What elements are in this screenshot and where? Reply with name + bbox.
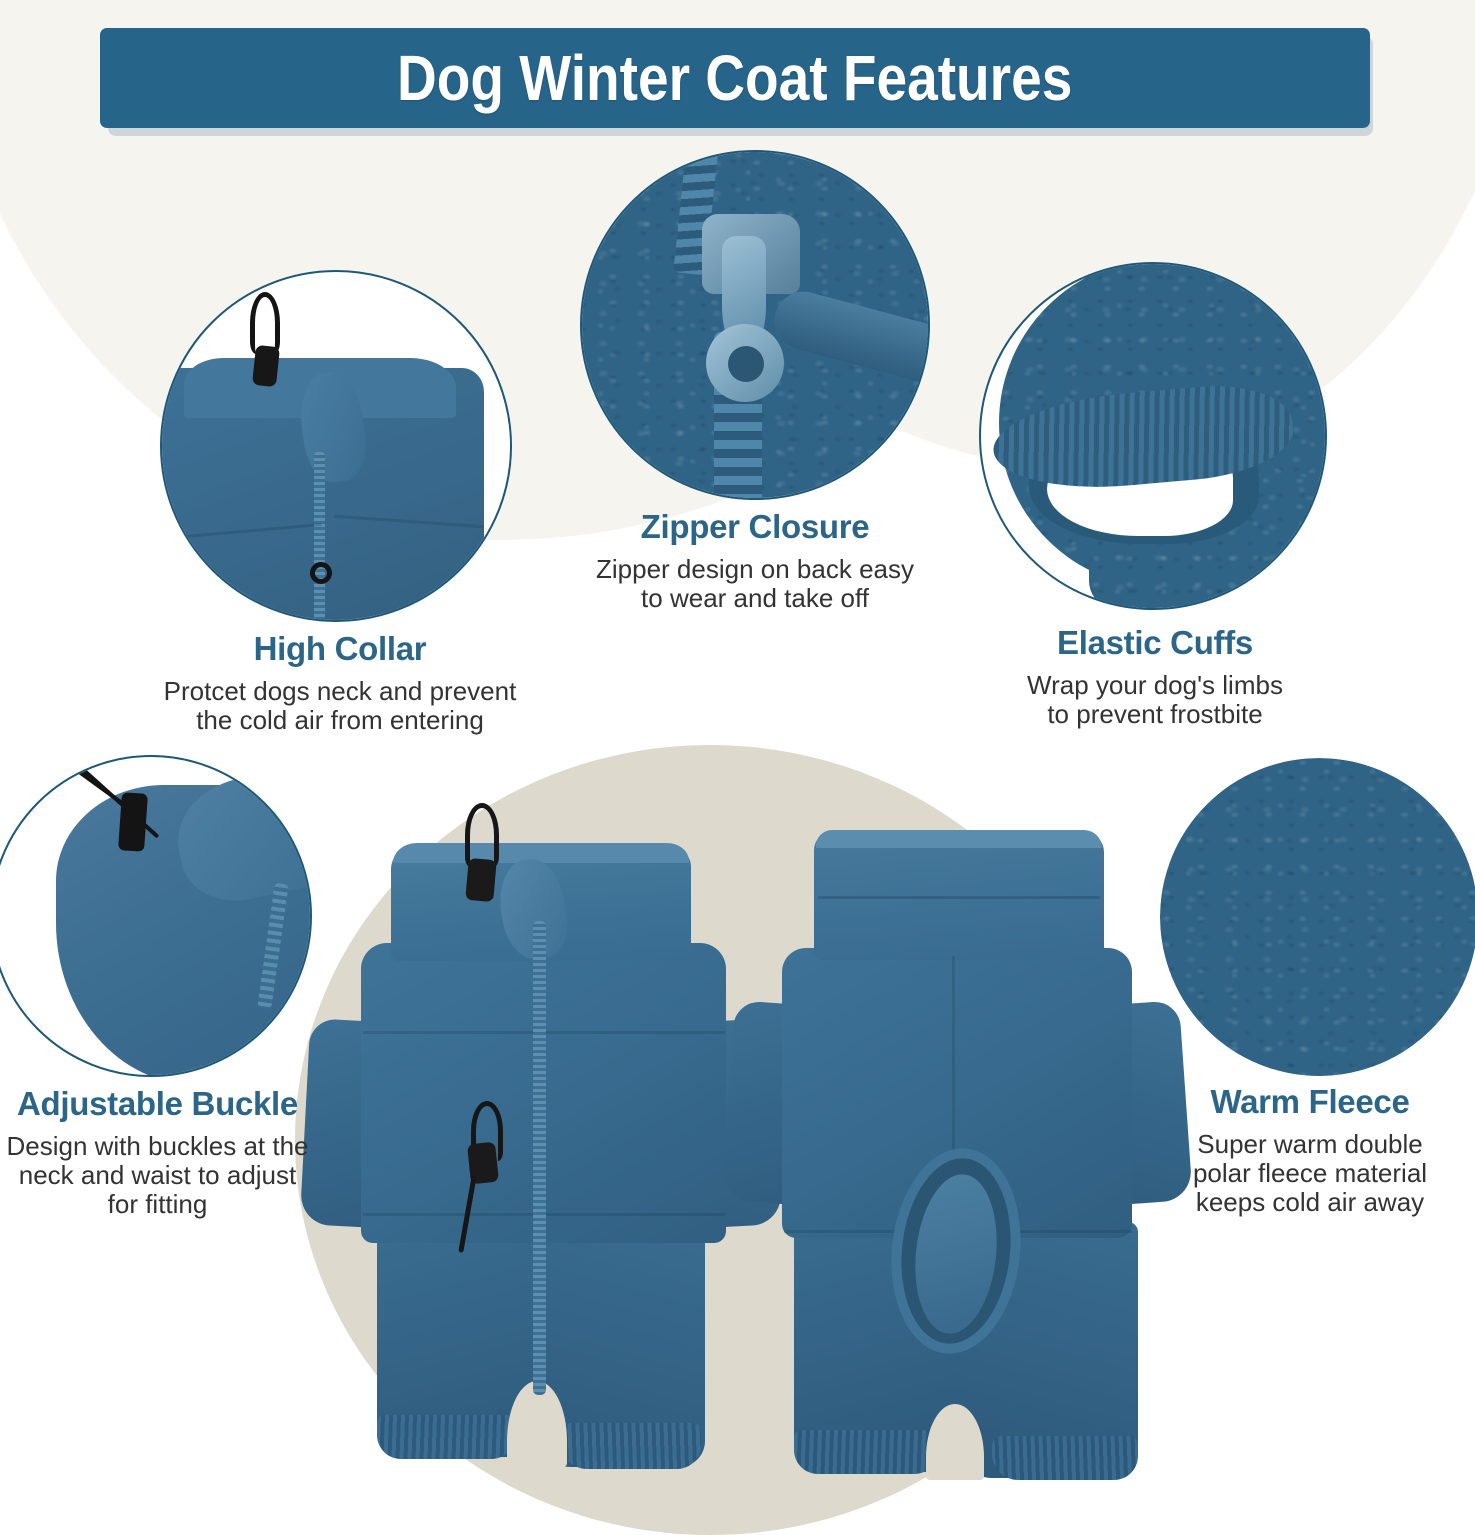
front-cuff-right — [561, 1423, 701, 1469]
feature-label-warm-fleece: Warm Fleece — [1140, 1083, 1475, 1121]
feature-elastic-cuffs: Elastic Cuffs Wrap your dog's limbs to p… — [965, 262, 1345, 729]
feature-label-adjustable-buckle: Adjustable Buckle — [0, 1085, 335, 1123]
desc-line: polar fleece material — [1140, 1159, 1475, 1188]
desc-line: for fitting — [0, 1190, 335, 1219]
desc-line: to prevent frostbite — [965, 700, 1345, 729]
front-collar-rim — [393, 843, 689, 863]
zipper-closure-photo — [580, 150, 930, 500]
desc-line: the cold air from entering — [150, 706, 530, 735]
zipper-track-icon — [314, 452, 325, 622]
feature-zipper-closure: Zipper Closure Zipper design on back eas… — [565, 150, 945, 613]
buckle-cord-lock — [118, 792, 148, 852]
feature-desc-zipper-closure: Zipper design on back easy to wear and t… — [565, 555, 945, 613]
infographic-page: Dog Winter Coat Features High Collar Pro… — [0, 0, 1475, 1500]
title-banner: Dog Winter Coat Features — [100, 28, 1370, 128]
high-collar-circle-wrap — [150, 270, 530, 630]
feature-desc-adjustable-buckle: Design with buckles at the neck and wais… — [0, 1132, 335, 1219]
feature-label-high-collar: High Collar — [150, 630, 530, 668]
zipper-closure-circle-wrap — [565, 150, 945, 508]
feature-high-collar: High Collar Protcet dogs neck and preven… — [150, 270, 530, 735]
page-title: Dog Winter Coat Features — [397, 41, 1072, 115]
feature-desc-high-collar: Protcet dogs neck and prevent the cold a… — [150, 677, 530, 735]
feature-desc-elastic-cuffs: Wrap your dog's limbs to prevent frostbi… — [965, 671, 1345, 729]
feature-label-zipper-closure: Zipper Closure — [565, 508, 945, 546]
elastic-cuffs-photo — [979, 262, 1327, 610]
zipper-pull-hole — [728, 346, 764, 382]
feature-desc-warm-fleece: Super warm double polar fleece material … — [1140, 1130, 1475, 1217]
front-neck-cord-toggle — [465, 858, 497, 902]
back-cuff-right — [992, 1436, 1138, 1480]
warm-fleece-swatch-photo — [1160, 758, 1475, 1076]
dog-coat-front-view-photo — [315, 825, 785, 1485]
cord-toggle — [252, 345, 280, 387]
desc-line: Wrap your dog's limbs — [965, 671, 1345, 700]
drawcord-loop — [250, 292, 280, 354]
desc-line: Zipper design on back easy — [565, 555, 945, 584]
elastic-cuffs-circle-wrap — [965, 262, 1345, 624]
back-collar-rim — [816, 830, 1102, 848]
cord-toggle-lower — [310, 562, 332, 584]
feature-adjustable-buckle: Adjustable Buckle Design with buckles at… — [0, 755, 335, 1219]
high-collar-photo — [160, 270, 512, 622]
desc-line: keeps cold air away — [1140, 1188, 1475, 1217]
back-center-seam — [952, 956, 955, 1152]
front-neck-drawcord-loop — [465, 803, 499, 867]
desc-line: to wear and take off — [565, 584, 945, 613]
dog-coat-back-view-photo — [740, 818, 1200, 1488]
warm-fleece-circle-wrap — [1140, 758, 1475, 1083]
fleece-texture-swatch — [1160, 758, 1475, 1076]
back-cuff-left — [794, 1430, 940, 1474]
back-collar-seam — [818, 896, 1100, 899]
feature-label-elastic-cuffs: Elastic Cuffs — [965, 624, 1345, 662]
front-cuff-left — [377, 1415, 517, 1459]
desc-line: Super warm double — [1140, 1130, 1475, 1159]
adjustable-buckle-photo — [0, 755, 312, 1077]
feature-warm-fleece: Warm Fleece Super warm double polar flee… — [1140, 758, 1475, 1217]
desc-line: Protcet dogs neck and prevent — [150, 677, 530, 706]
desc-line: Design with buckles at the — [0, 1132, 335, 1161]
front-zipper-track-icon — [533, 921, 546, 1395]
desc-line: neck and waist to adjust — [0, 1161, 335, 1190]
adjustable-buckle-circle-wrap — [0, 755, 335, 1085]
